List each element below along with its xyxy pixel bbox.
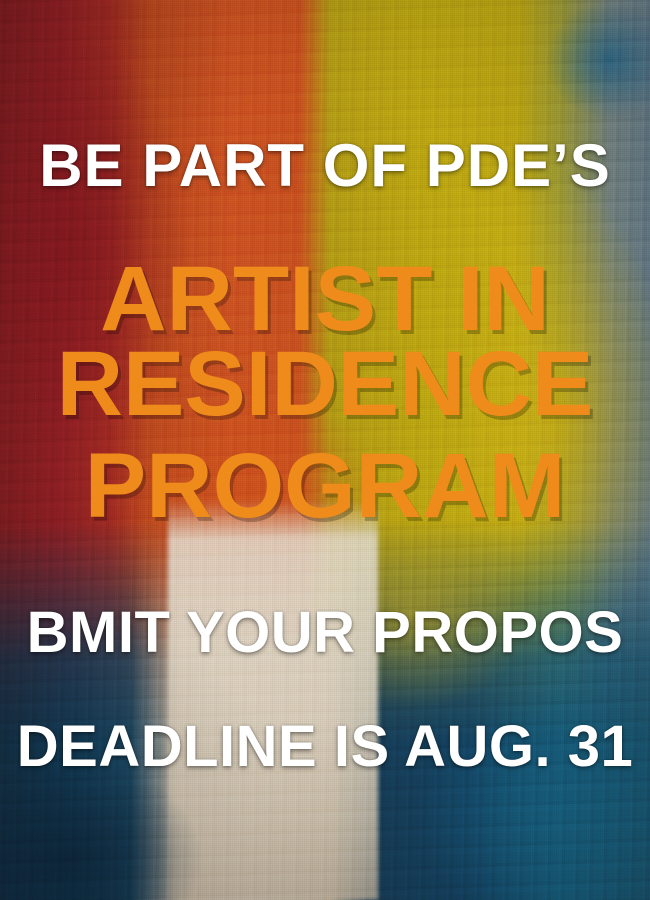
poster-deadline-line: DEADLINE IS AUG. 31 xyxy=(0,718,650,776)
poster-title-line-3: PROGRAM xyxy=(0,440,650,532)
poster-text-stack: BE PART OF PDE’S ARTIST IN RESIDENCE PRO… xyxy=(0,0,650,900)
poster-intro-line: BE PART OF PDE’S xyxy=(0,136,650,196)
poster-canvas: BE PART OF PDE’S ARTIST IN RESIDENCE PRO… xyxy=(0,0,650,900)
poster-title-line-2: RESIDENCE xyxy=(0,338,650,430)
poster-title-line-1: ARTIST IN xyxy=(0,253,650,345)
poster-call-to-action: BMIT YOUR PROPOS xyxy=(0,604,650,662)
